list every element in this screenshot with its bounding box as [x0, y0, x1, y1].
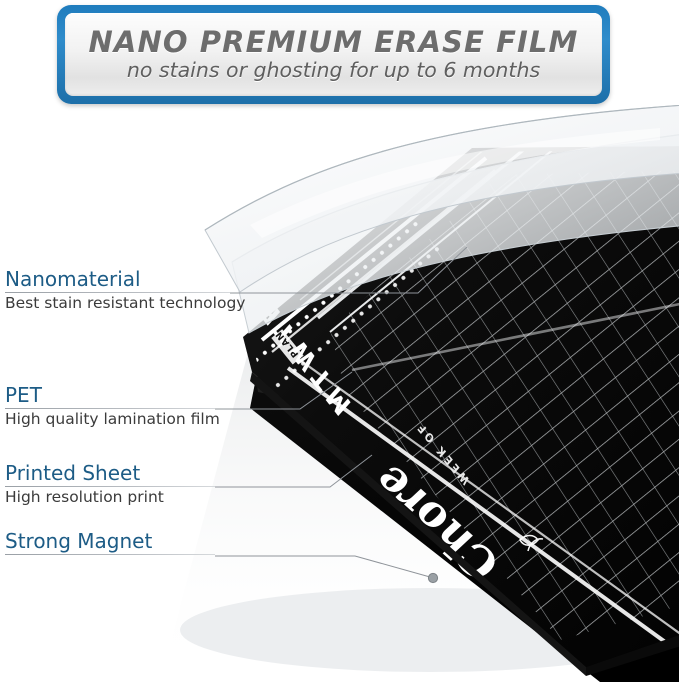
callout-description-printed-sheet: High resolution print — [5, 488, 215, 507]
callout-description-pet: High quality lamination film — [5, 410, 220, 429]
leaf-flourish — [520, 536, 543, 552]
svg-text:PLAN: PLAN — [274, 329, 301, 359]
banner-title: NANO PREMIUM ERASE FILM — [89, 28, 579, 57]
board-shadow — [180, 588, 679, 672]
callout-rule-printed-sheet — [5, 486, 215, 487]
callout-pet: PET High quality lamination film — [5, 384, 220, 429]
callout-title-pet: PET — [5, 384, 220, 406]
header-banner: NANO PREMIUM ERASE FILM no stains or gho… — [57, 5, 610, 104]
magnet-layer — [250, 348, 679, 682]
callout-title-nanomaterial: Nanomaterial — [5, 268, 245, 290]
leader-line-printed-sheet — [215, 455, 372, 487]
svg-text:WEEK OF: WEEK OF — [414, 419, 472, 488]
infographic-canvas: MTWTFSS WEEK OF Chore PLAN — [0, 0, 679, 682]
callout-nanomaterial: Nanomaterial Best stain resistant techno… — [5, 268, 245, 313]
callout-description-nanomaterial: Best stain resistant technology — [5, 294, 245, 313]
callout-printed-sheet: Printed Sheet High resolution print — [5, 462, 215, 507]
corner-tag-text: PLAN — [271, 329, 304, 365]
leader-dot-strong-magnet — [428, 573, 437, 582]
nanomaterial-film-layer — [205, 104, 679, 292]
banner-subtitle: no stains or ghosting for up to 6 months — [127, 60, 540, 81]
callout-rule-strong-magnet — [5, 554, 215, 555]
header-banner-inner: NANO PREMIUM ERASE FILM no stains or gho… — [65, 13, 602, 96]
callout-rule-nanomaterial — [5, 292, 230, 293]
leader-line-pet — [215, 372, 352, 409]
week-of-text: WEEK OF — [414, 419, 472, 488]
script-word-text: Chore — [367, 452, 507, 592]
svg-text:Chore: Chore — [367, 452, 507, 592]
callout-title-printed-sheet: Printed Sheet — [5, 462, 215, 484]
leader-line-strong-magnet — [215, 556, 430, 577]
callout-title-strong-magnet: Strong Magnet — [5, 530, 215, 552]
callout-rule-pet — [5, 408, 215, 409]
leader-line-nanomaterial — [230, 247, 467, 293]
pet-film-layer — [232, 132, 679, 333]
callout-strong-magnet: Strong Magnet — [5, 530, 215, 556]
